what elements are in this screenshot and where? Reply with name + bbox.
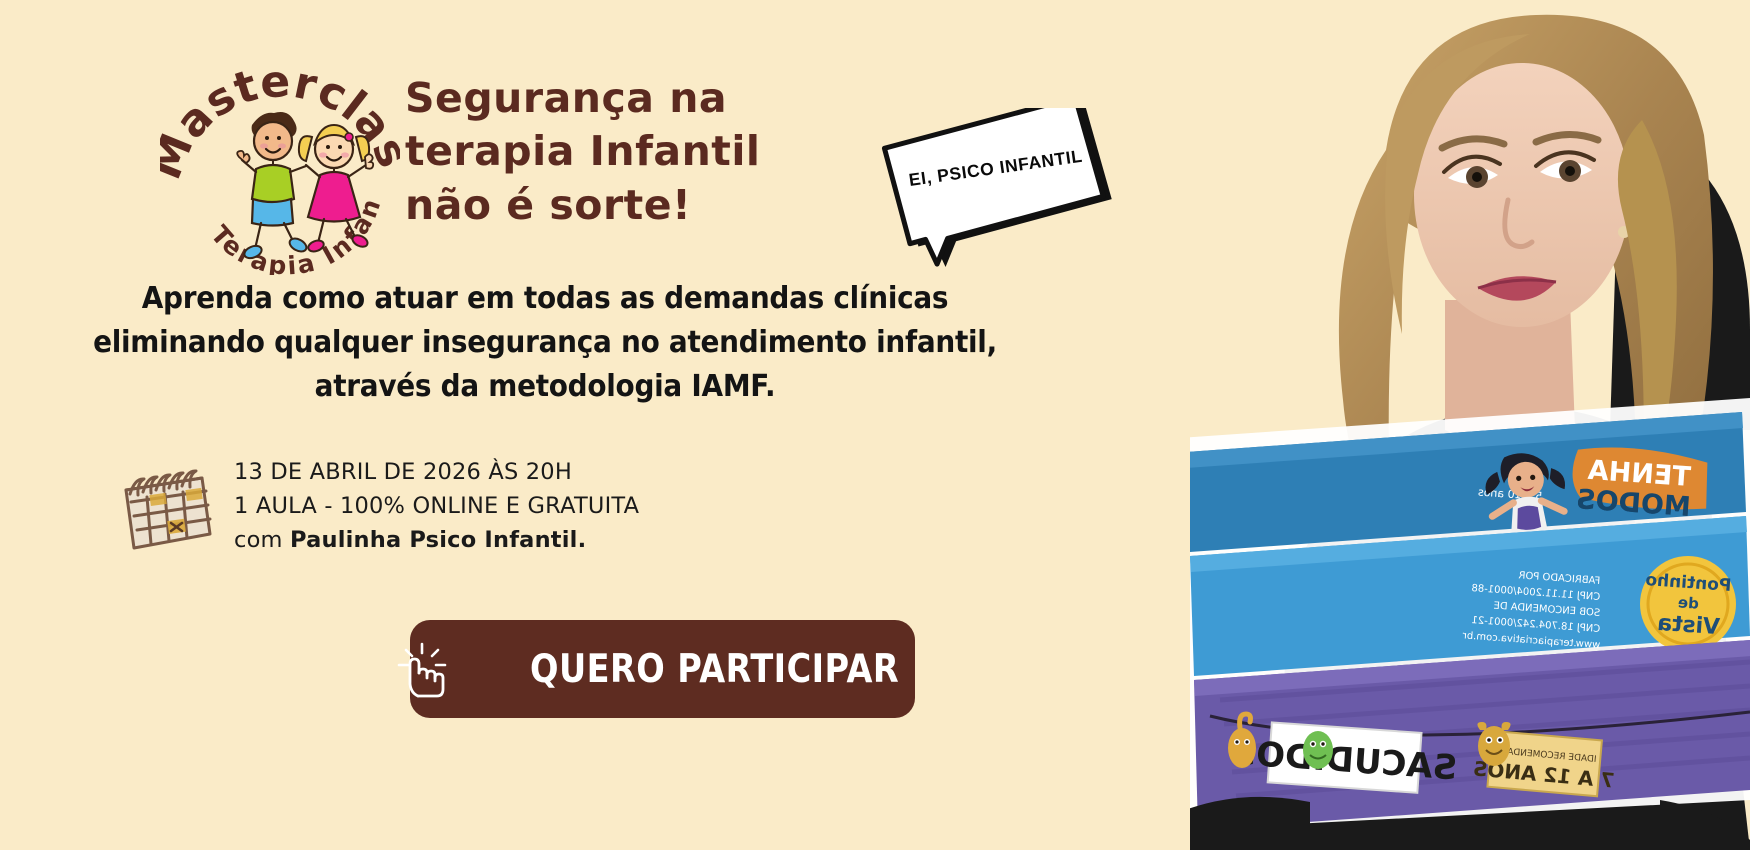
promo-banner: Masterclass Terapia Infantil	[0, 0, 1750, 850]
headline-line-2: terapia Infantil	[405, 125, 805, 178]
click-hand-icon	[396, 640, 448, 698]
body-copy-line-1: Aprenda como atuar em todas as demandas …	[38, 277, 1052, 321]
event-details: 13 DE ABRIL DE 2026 ÀS 20H 1 AULA - 100%…	[110, 455, 639, 558]
svg-text:de: de	[1677, 593, 1699, 612]
speech-bubble: EI, PSICO INFANTIL	[865, 108, 1115, 268]
headline-line-1: Segurança na	[405, 72, 805, 125]
body-copy: Aprenda como atuar em todas as demandas …	[38, 277, 1052, 408]
presenter-illustration: TENHA MODOS TENHA MODOS 5 a 10 anos	[1190, 0, 1750, 850]
event-host-prefix: com	[234, 527, 290, 553]
event-host: com Paulinha Psico Infantil.	[234, 523, 639, 557]
event-host-name: Paulinha Psico Infantil.	[290, 527, 586, 553]
event-format: 1 AULA - 100% ONLINE E GRATUITA	[234, 489, 639, 523]
calendar-icon	[110, 456, 216, 556]
body-copy-line-2: eliminando qualquer insegurança no atend…	[38, 321, 1052, 365]
svg-text:Vista: Vista	[1656, 611, 1720, 640]
cta-label: QUERO PARTICIPAR	[530, 647, 899, 692]
presenter-photo: TENHA MODOS TENHA MODOS 5 a 10 anos	[1190, 0, 1750, 850]
body-copy-line-3: através da metodologia IAMF.	[38, 365, 1052, 409]
event-date: 13 DE ABRIL DE 2026 ÀS 20H	[234, 455, 639, 489]
masterclass-logo: Masterclass Terapia Infantil	[160, 45, 400, 275]
quero-participar-button[interactable]: QUERO PARTICIPAR	[410, 620, 915, 718]
headline: Segurança na terapia Infantil não é sort…	[405, 72, 805, 232]
logo-illustration: Masterclass Terapia Infantil	[160, 45, 400, 275]
event-detail-lines: 13 DE ABRIL DE 2026 ÀS 20H 1 AULA - 100%…	[234, 455, 639, 558]
speech-bubble-shape	[865, 108, 1115, 268]
headline-line-3: não é sorte!	[405, 179, 805, 232]
boy-figure	[237, 112, 308, 260]
